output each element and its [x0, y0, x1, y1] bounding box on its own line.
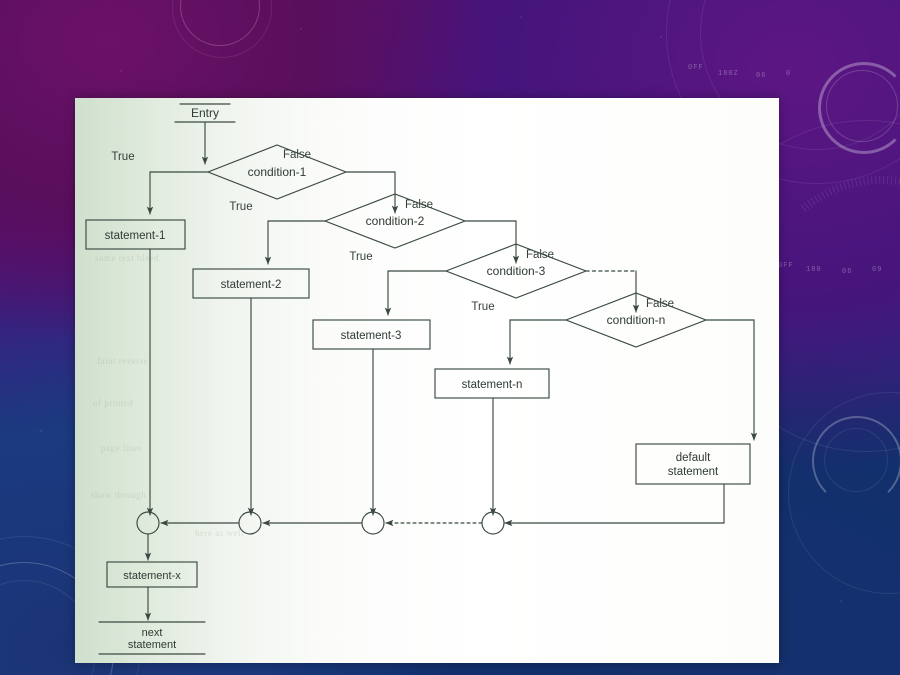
edge-label-true-1: True: [111, 151, 134, 163]
decorative-tick: [891, 176, 893, 184]
decorative-speck: [40, 430, 42, 432]
decorative-speck: [120, 70, 122, 72]
decorative-tick: [843, 182, 846, 190]
flowchart-svg: Entry condition-1 condition-2 condition-…: [75, 98, 779, 663]
decorative-tick: [863, 177, 865, 185]
condition-n-label: condition-n: [607, 313, 666, 327]
decorative-tick-label-0: 0FF: [688, 64, 704, 72]
decorative-tick: [828, 188, 832, 196]
decorative-tick-label-6: 06: [842, 268, 852, 276]
slide: 0FF 180Z 06 0 0FF 180 06 09 some text bl…: [0, 0, 900, 675]
decorative-tick: [875, 176, 876, 184]
decorative-tick-label-3: 0: [786, 70, 791, 78]
next-statement-label-line1: next: [142, 627, 163, 639]
statement-1-label: statement-1: [105, 230, 166, 242]
edge-label-false-3: False: [526, 249, 554, 261]
next-statement-label-line2: statement: [128, 639, 176, 651]
decorative-speck: [840, 600, 842, 602]
edge-label-true-3: True: [349, 251, 372, 263]
decorative-tick: [894, 177, 896, 185]
condition-1-label: condition-1: [248, 165, 307, 179]
decorative-tick-label-4: 0FF: [778, 262, 794, 270]
shape-merge-1: [137, 512, 159, 534]
entry-label: Entry: [191, 106, 219, 120]
edge-label-false-n: False: [646, 298, 674, 310]
decorative-tick: [851, 180, 854, 188]
decorative-tick: [836, 184, 840, 192]
shape-default-statement: [636, 444, 750, 484]
decorative-ring-bottomright-inner: [824, 428, 888, 492]
condition-3-label: condition-3: [487, 264, 546, 278]
decorative-tick: [867, 177, 869, 185]
decorative-speck: [520, 16, 522, 18]
default-statement-label-line1: default: [676, 452, 711, 464]
condition-2-label: condition-2: [366, 214, 425, 228]
decorative-tick: [832, 186, 836, 194]
decorative-tick-label-2: 06: [756, 72, 766, 80]
edge-label-true-2: True: [229, 201, 252, 213]
statement-2-label: statement-2: [221, 279, 282, 291]
decorative-tick-label-1: 180Z: [718, 70, 739, 78]
decorative-tick: [859, 178, 861, 186]
decorative-tick-label-7: 09: [872, 266, 882, 274]
decorative-tick: [883, 176, 884, 184]
decorative-tick: [887, 176, 888, 184]
statement-3-label: statement-3: [341, 330, 402, 342]
decorative-tick: [855, 179, 858, 187]
statement-x-label: statement-x: [123, 570, 181, 582]
decorative-tick: [839, 183, 843, 191]
decorative-tick: [847, 181, 850, 189]
shape-merge-2: [239, 512, 261, 534]
decorative-tick-label-5: 180: [806, 266, 822, 274]
decorative-speck: [300, 28, 302, 30]
flowchart-photo: some text bleed faint reverse of printed…: [75, 98, 779, 663]
edge-label-false-1: False: [283, 149, 311, 161]
decorative-tick: [871, 176, 873, 184]
decorative-speck: [660, 36, 662, 38]
decorative-tick: [879, 176, 880, 184]
statement-n-label: statement-n: [462, 379, 523, 391]
edge-label-true-n: True: [471, 301, 494, 313]
default-statement-label-line2: statement: [668, 466, 719, 478]
edge-label-false-2: False: [405, 199, 433, 211]
